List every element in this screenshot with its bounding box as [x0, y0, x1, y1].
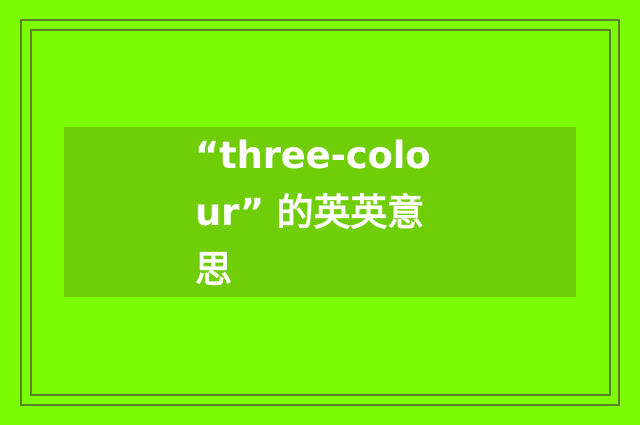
title-panel: “three-colour” 的英英意思: [64, 127, 576, 297]
page-title: “three-colour” 的英英意思: [195, 127, 445, 298]
green-title-banner: “three-colour” 的英英意思: [0, 0, 640, 425]
